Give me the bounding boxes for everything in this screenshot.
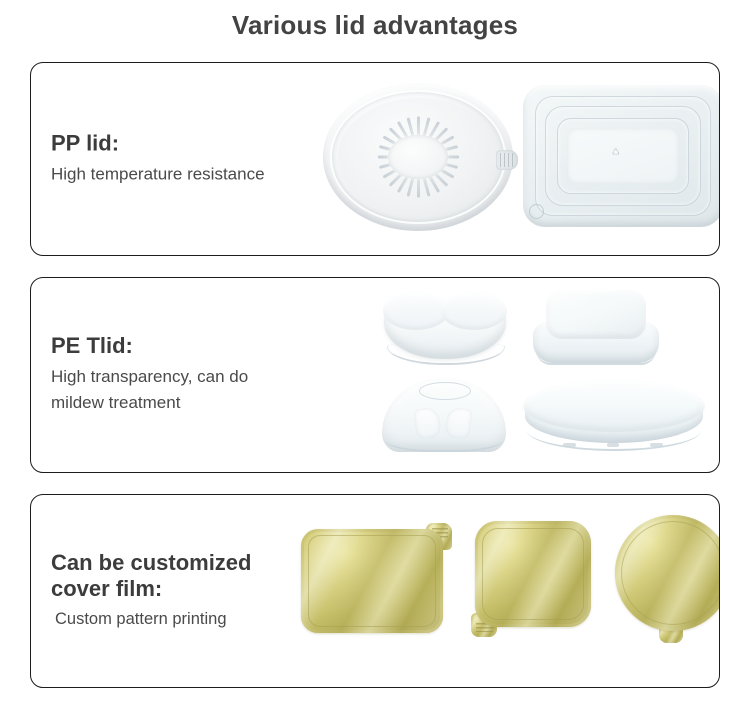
round-ribbed-pp-lid-image <box>323 83 513 231</box>
foil-rect-inner-border <box>308 535 436 627</box>
page-title: Various lid advantages <box>0 10 750 41</box>
foil-square-body <box>475 521 591 627</box>
square-lid-top-panel <box>546 290 647 340</box>
dome-pe-lid-image <box>379 378 509 452</box>
card-pp-lid-subtext: High temperature resistance <box>51 161 331 187</box>
rect-lid-face: ♺ <box>567 128 679 185</box>
card-cover-film: Can be customized cover film: Custom pat… <box>30 494 720 688</box>
heart-shaped-pe-lid-image <box>379 290 511 370</box>
oval-lid-tick-center <box>607 443 620 447</box>
rect-lid-body: ♺ <box>523 85 720 227</box>
dome-lid-highlight-right <box>445 406 473 438</box>
card-pp-lid-images: ♺ <box>301 63 713 255</box>
round-lid-face <box>338 98 498 216</box>
oval-lid-rim <box>527 430 702 451</box>
heart-lid-rim <box>387 342 505 365</box>
heart-lid-lobe-left <box>383 292 449 330</box>
oval-lid-tick-left <box>563 443 576 447</box>
rect-lid-corner-notch <box>529 204 544 219</box>
dome-lid-highlight-left <box>414 406 442 438</box>
square-lid-body <box>533 288 659 368</box>
oval-lid-top-panel <box>523 380 705 432</box>
card-pe-lid-heading: PE Tlid: <box>51 333 331 359</box>
rect-lid-embossed-mark: ♺ <box>612 147 620 158</box>
round-lid-vent-tab <box>496 150 518 170</box>
heart-lid-lobe-right <box>441 292 507 330</box>
foil-rect-body <box>301 529 443 633</box>
foil-round-body <box>615 515 720 631</box>
square-lid-bottom-edge <box>536 350 657 365</box>
card-pe-lid-text-block: PE Tlid: High transparency, can do milde… <box>51 333 331 417</box>
foil-round-inner-border <box>621 521 720 625</box>
card-pp-lid-heading: PP lid: <box>51 130 331 156</box>
card-pe-lid: PE Tlid: High transparency, can do milde… <box>30 277 720 473</box>
card-pe-lid-subtext: High transparency, can do mildew treatme… <box>51 364 331 417</box>
round-gold-foil-lid-image <box>615 515 720 641</box>
oval-pe-lid-image <box>523 380 705 452</box>
card-pe-lid-images <box>301 278 713 472</box>
heart-lid-body <box>379 290 511 370</box>
card-pp-lid: PP lid: High temperature resistance <box>30 62 720 256</box>
square-gold-foil-lid-image <box>471 521 599 639</box>
oval-lid-tick-right <box>650 443 663 447</box>
square-pe-lid-image <box>533 288 659 368</box>
rectangular-gold-foil-lid-image <box>301 523 457 635</box>
card-pp-lid-text-block: PP lid: High temperature resistance <box>51 130 331 187</box>
foil-square-inner-border <box>482 528 584 620</box>
rectangular-pp-lid-image: ♺ <box>523 85 720 227</box>
round-lid-body <box>323 83 513 231</box>
card-cover-film-images <box>301 495 713 687</box>
dome-lid-top-circle <box>419 382 471 400</box>
